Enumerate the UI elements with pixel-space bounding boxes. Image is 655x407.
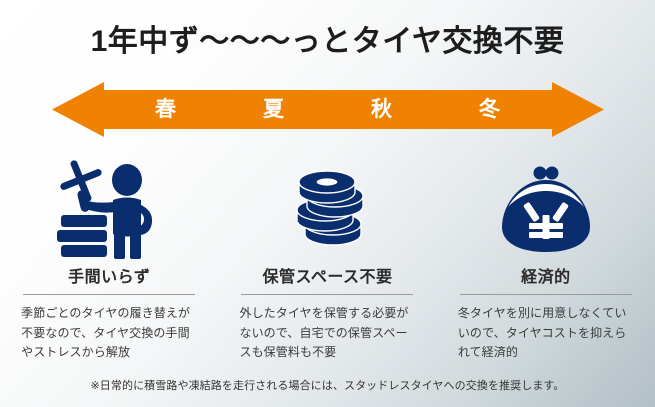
- benefit-body: 冬タイヤを別に用意しなくていいので、タイヤコストを抑えられて経済的: [458, 304, 634, 362]
- page-title: 1年中ず〜〜〜っとタイヤ交換不要: [0, 16, 655, 60]
- benefit-heading: 保管スペース不要: [262, 268, 392, 287]
- benefit-column-no-storage: 保管スペース不要 外したタイヤを保管する必要がないので、自宅での保管スペースも保…: [218, 150, 436, 363]
- benefit-column-economical: 経済的 冬タイヤを別に用意しなくていいので、タイヤコストを抑えられて経済的: [437, 150, 655, 363]
- benefit-column-no-hassle: 手間いらず 季節ごとのタイヤの履き替えが不要なので、タイヤ交換の手間やストレスか…: [0, 150, 218, 363]
- stacked-tires-icon: [269, 150, 385, 260]
- mechanic-with-wrench-and-tires-icon: [51, 150, 167, 260]
- coin-purse-yen-icon: [488, 150, 604, 260]
- heading-divider: [241, 294, 413, 295]
- season-label-row: 春 夏 秋 冬: [52, 82, 604, 137]
- season-label-summer: 夏: [220, 99, 328, 120]
- infographic-root: 1年中ず〜〜〜っとタイヤ交換不要 春 夏 秋 冬: [0, 0, 655, 407]
- benefit-body: 外したタイヤを保管する必要がないので、自宅での保管スペースも保管料も不要: [239, 304, 415, 362]
- heading-divider: [23, 294, 195, 295]
- benefit-columns: 手間いらず 季節ごとのタイヤの履き替えが不要なので、タイヤ交換の手間やストレスか…: [0, 150, 655, 363]
- benefit-heading: 手間いらず: [68, 268, 150, 287]
- season-label-autumn: 秋: [328, 99, 436, 120]
- season-label-spring: 春: [112, 99, 220, 120]
- benefit-heading: 経済的: [521, 268, 571, 287]
- season-label-winter: 冬: [436, 99, 544, 120]
- footnote-text: ※日常的に積雪路や凍結路を走行される場合には、スタッドレスタイヤへの交換を推奨し…: [0, 377, 655, 393]
- heading-divider: [460, 294, 632, 295]
- benefit-body: 季節ごとのタイヤの履き替えが不要なので、タイヤ交換の手間やストレスから解放: [21, 304, 197, 362]
